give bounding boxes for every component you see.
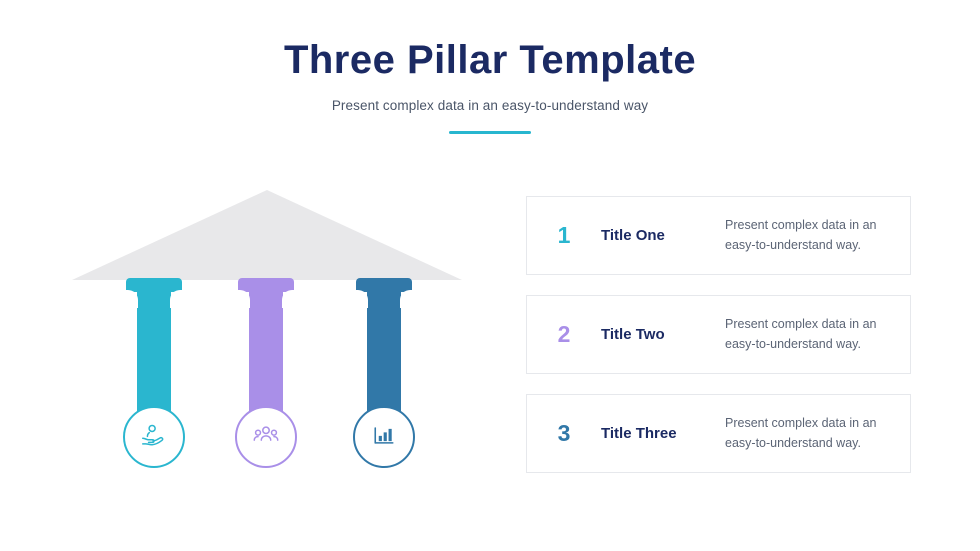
page-subtitle: Present complex data in an easy-to-under… <box>0 98 980 113</box>
title-underline-accent <box>449 131 531 134</box>
list-item-number: 1 <box>527 222 601 249</box>
pillar-three-shaft <box>367 290 401 416</box>
people-group-icon <box>251 420 281 455</box>
pillar-three-right-notch <box>400 290 412 308</box>
list-item-description: Present complex data in an easy-to-under… <box>725 315 910 354</box>
slide-canvas: Three Pillar Template Present complex da… <box>0 0 980 551</box>
pillar-one-shaft <box>137 290 171 416</box>
list-item-number: 3 <box>527 420 601 447</box>
pillar-one-right-notch <box>170 290 182 308</box>
list-item[interactable]: 3 Title Three Present complex data in an… <box>526 394 911 473</box>
pillar-two-shaft <box>249 290 283 416</box>
list-item-title: Title Three <box>601 425 725 442</box>
pillar-one-icon-badge[interactable] <box>123 406 185 468</box>
list-item-title: Title Two <box>601 326 725 343</box>
list-item-description: Present complex data in an easy-to-under… <box>725 216 910 255</box>
hand-coin-icon <box>139 420 169 455</box>
list-item[interactable]: 1 Title One Present complex data in an e… <box>526 196 911 275</box>
pillar-detail-list: 1 Title One Present complex data in an e… <box>526 196 911 493</box>
three-pillar-graphic <box>60 180 480 490</box>
pillar-two-right-notch <box>282 290 294 308</box>
pillar-two-icon-badge[interactable] <box>235 406 297 468</box>
slide-header: Three Pillar Template Present complex da… <box>0 38 980 134</box>
list-item[interactable]: 2 Title Two Present complex data in an e… <box>526 295 911 374</box>
temple-roof-shape <box>72 190 462 280</box>
list-item-title: Title One <box>601 227 725 244</box>
pillar-three-icon-badge[interactable] <box>353 406 415 468</box>
bar-chart-icon <box>370 421 398 454</box>
page-title: Three Pillar Template <box>0 38 980 82</box>
list-item-description: Present complex data in an easy-to-under… <box>725 414 910 453</box>
list-item-number: 2 <box>527 321 601 348</box>
